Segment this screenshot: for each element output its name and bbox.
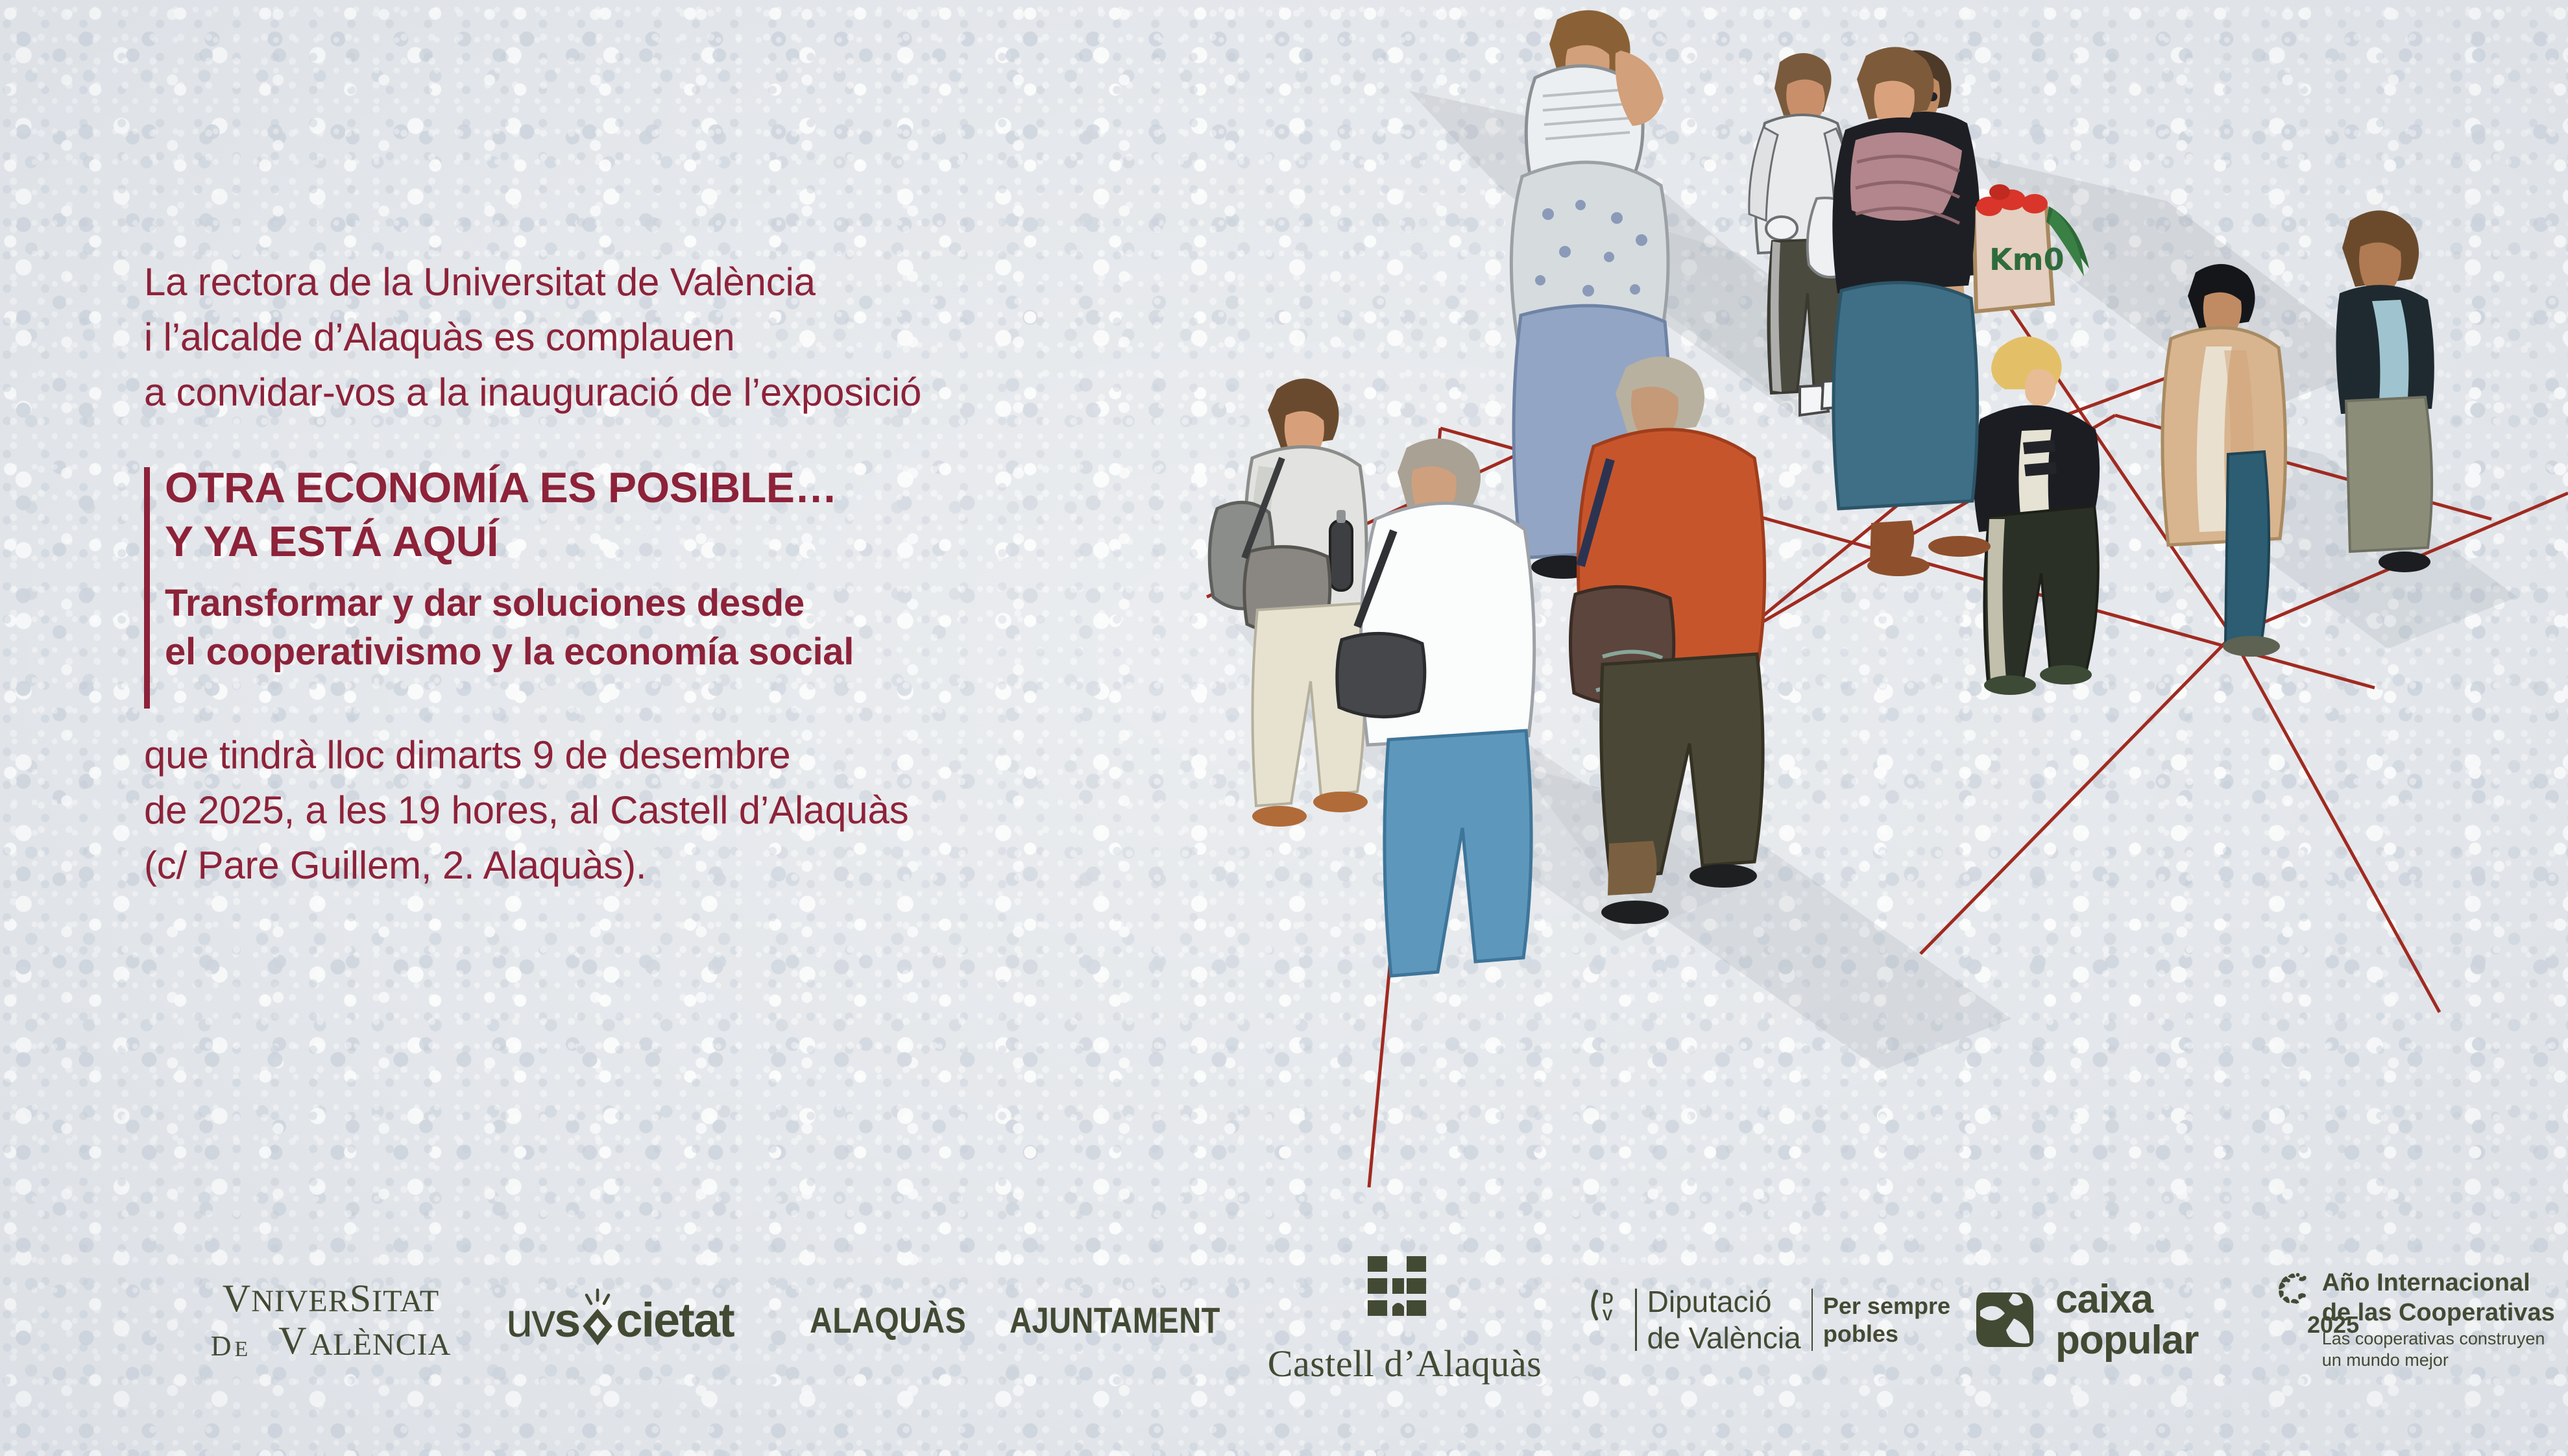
subtitle-line-2: el cooperativismo y la economía social bbox=[165, 627, 1299, 676]
diputacio-name: Diputació de València bbox=[1647, 1283, 1801, 1356]
divider-1 bbox=[1635, 1289, 1636, 1351]
sponsor-logo-bar: VNIVERSITAT DE VALÈNCIA bbox=[0, 1183, 2568, 1456]
logo-diputacio-de-valencia[interactable]: D V Diputació de València Per sempre pob… bbox=[1587, 1283, 1950, 1356]
logo-ano-internacional-cooperativas[interactable]: 2025 Año Internacional de las Cooperativ… bbox=[2276, 1268, 2568, 1370]
event-details-block: que tindrà lloc dimarts 9 de desembre de… bbox=[144, 727, 1299, 893]
cooperatives-year: 2025 bbox=[2307, 1311, 2359, 1339]
figure-curly-woman bbox=[2336, 210, 2434, 572]
uvsocietat-suffix: cietat bbox=[616, 1292, 733, 1348]
logo-caixa-popular[interactable]: caixa popular bbox=[1974, 1279, 2246, 1361]
text-column: La rectora de la Universitat de València… bbox=[144, 254, 1299, 893]
ajuntament-left-text: ALAQUÀS bbox=[810, 1299, 966, 1341]
tagline-line-1: Per sempre bbox=[1823, 1292, 1950, 1319]
caixa-line-1: caixa bbox=[2055, 1277, 2153, 1322]
invitation-line-1: La rectora de la Universitat de València bbox=[144, 254, 1299, 309]
logo-ajuntament-alaquas[interactable]: ALAQUÀS AJUNTAMENT bbox=[810, 1271, 1225, 1368]
logo-uv-societat[interactable]: uvs cietat bbox=[506, 1292, 785, 1348]
subtitle-block: Transformar y dar soluciones desde el co… bbox=[165, 579, 1299, 677]
caixa-line-2: popular bbox=[2055, 1318, 2198, 1363]
title-accent-bar bbox=[144, 467, 150, 709]
ajuntament-right-text: AJUNTAMENT bbox=[1010, 1299, 1220, 1341]
uvsocietat-s: s bbox=[554, 1292, 579, 1348]
details-line-1: que tindrà lloc dimarts 9 de desembre bbox=[144, 727, 1299, 783]
uv-logo-line-2: DE VALÈNCIA bbox=[211, 1320, 452, 1362]
divider-2 bbox=[1811, 1289, 1813, 1351]
caixa-wordmark: caixa popular bbox=[2055, 1279, 2198, 1361]
cooperatives-title-line-1: Año Internacional bbox=[2322, 1269, 2530, 1296]
castell-grid-icon bbox=[1366, 1255, 1443, 1331]
title-line-2: Y YA ESTÁ AQUÍ bbox=[165, 515, 1299, 568]
exhibition-title-block: OTRA ECONOMÍA ES POSIBLE… Y YA ESTÁ AQUÍ… bbox=[144, 461, 1299, 677]
details-line-3: (c/ Pare Guillem, 2. Alaquàs). bbox=[144, 838, 1299, 893]
cooperatives-c-people-icon: 2025 bbox=[2276, 1271, 2312, 1368]
tagline-line-2: pobles bbox=[1823, 1320, 1898, 1347]
poster-canvas: Km0 bbox=[0, 0, 2568, 1456]
castell-name: Castell d’Alaquàs bbox=[1268, 1342, 1542, 1385]
caixa-mark-icon bbox=[1974, 1285, 2044, 1355]
svg-text:Km0: Km0 bbox=[1989, 242, 2065, 277]
diputacio-line-2: de València bbox=[1647, 1321, 1801, 1355]
svg-text:D: D bbox=[1603, 1290, 1614, 1307]
uv-logo-line-1: VNIVERSITAT bbox=[223, 1278, 440, 1320]
dv-monogram-icon: D V bbox=[1587, 1286, 1625, 1353]
title-line-1: OTRA ECONOMÍA ES POSIBLE… bbox=[165, 461, 1299, 515]
invitation-block: La rectora de la Universitat de València… bbox=[144, 254, 1299, 420]
cooperatives-tag-line-2: un mundo mejor bbox=[2322, 1350, 2449, 1370]
subtitle-line-1: Transformar y dar soluciones desde bbox=[165, 579, 1299, 627]
invitation-line-3: a convidar-vos a la inauguració de l’exp… bbox=[144, 365, 1299, 420]
diputacio-tagline: Per sempre pobles bbox=[1823, 1292, 1950, 1348]
uvsocietat-prefix: uv bbox=[506, 1292, 554, 1348]
figure-blonde-striding bbox=[1973, 336, 2100, 695]
invitation-line-2: i l’alcalde d’Alaquàs es complauen bbox=[144, 309, 1299, 365]
crowd-illustration: Km0 bbox=[1155, 0, 2568, 1187]
owl-icon bbox=[251, 1327, 276, 1362]
svg-text:V: V bbox=[1603, 1307, 1613, 1324]
diputacio-line-1: Diputació bbox=[1647, 1285, 1772, 1318]
logo-castell-dalaquas[interactable]: Castell d’Alaquàs bbox=[1252, 1255, 1557, 1385]
logo-universitat-de-valencia[interactable]: VNIVERSITAT DE VALÈNCIA bbox=[195, 1278, 467, 1362]
details-line-2: de 2025, a les 19 hores, al Castell d’Al… bbox=[144, 783, 1299, 838]
